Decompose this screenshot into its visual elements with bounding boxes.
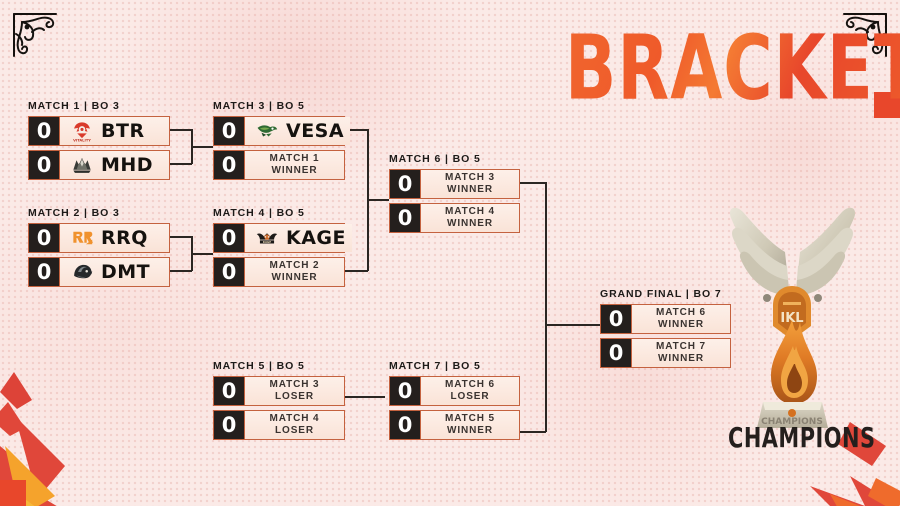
match-label: MATCH 6 | BO 5: [389, 153, 520, 165]
bracket-slot[interactable]: 0 MATCH 4 WINNER: [389, 203, 520, 233]
score-value: 0: [390, 377, 421, 405]
match-1: MATCH 1 | BO 3 0 VITALITY BTR 0: [28, 100, 170, 180]
bracket-slot[interactable]: 0 MATCH 1 WINNER: [213, 150, 345, 180]
bracket-slot[interactable]: 0 MATCH 3 LOSER: [213, 376, 345, 406]
bracket-slot[interactable]: 0 MATCH 5 WINNER: [389, 410, 520, 440]
bracket-slot[interactable]: 0 MATCH 3 WINNER: [389, 169, 520, 199]
score-value: 0: [390, 204, 421, 232]
score-value: 0: [29, 258, 60, 286]
connector-line: [170, 236, 192, 238]
bracket-slot[interactable]: 0 VESA: [213, 116, 345, 146]
score-value: 0: [601, 339, 632, 367]
bracket-slot[interactable]: 0 KAGE KAGE: [213, 223, 345, 253]
vesa-logo-icon: [255, 120, 279, 142]
connector-line: [170, 129, 192, 131]
slot-placeholder: MATCH 4 WINNER: [427, 206, 513, 231]
connector-line: [170, 270, 192, 272]
match-label: MATCH 1 | BO 3: [28, 100, 170, 112]
bracket-slot[interactable]: 0 MATCH 6 LOSER: [389, 376, 520, 406]
team-name: RRQ: [101, 227, 148, 249]
score-value: 0: [214, 377, 245, 405]
rrq-logo-icon: [70, 227, 94, 249]
connector-line: [367, 129, 369, 271]
score-value: 0: [214, 117, 245, 145]
slot-placeholder: MATCH 5 WINNER: [427, 413, 513, 438]
match-3: MATCH 3 | BO 5 0 VESA 0: [213, 100, 345, 180]
connector-line: [191, 129, 193, 164]
placeholder-line-1: MATCH 1: [251, 153, 338, 166]
trophy-icon: IKL CHAMPIONS: [705, 160, 880, 430]
score-value: 0: [214, 258, 245, 286]
match-label: MATCH 4 | BO 5: [213, 207, 345, 219]
placeholder-line-2: LOSER: [251, 391, 338, 404]
team-name: VESA: [286, 120, 344, 142]
score-value: 0: [29, 117, 60, 145]
match-6: MATCH 6 | BO 5 0 MATCH 3 WINNER 0 MATCH …: [389, 153, 520, 233]
score-value: 0: [601, 305, 632, 333]
match-label: MATCH 7 | BO 5: [389, 360, 520, 372]
slot-placeholder: MATCH 1 WINNER: [251, 153, 338, 178]
connector-line: [170, 163, 192, 165]
connector-line: [367, 199, 389, 201]
champions-label: CHAMPIONS: [728, 423, 875, 454]
slot-placeholder: MATCH 6 LOSER: [427, 379, 513, 404]
placeholder-line-1: MATCH 4: [427, 206, 513, 219]
connector-line: [345, 270, 368, 272]
bracket-page: BRACKET MATCH 1 | BO 3 0: [0, 0, 900, 506]
slot-placeholder: MATCH 2 WINNER: [251, 260, 338, 285]
placeholder-line-2: LOSER: [427, 391, 513, 404]
team-name: BTR: [101, 120, 145, 142]
placeholder-line-1: MATCH 4: [251, 413, 338, 426]
slot-placeholder: MATCH 4 LOSER: [251, 413, 338, 438]
team-name: DMT: [101, 261, 150, 283]
filigree-ornament-icon: [10, 10, 62, 62]
placeholder-line-2: WINNER: [427, 218, 513, 231]
bracket-slot[interactable]: 0 MHD: [28, 150, 170, 180]
match-2: MATCH 2 | BO 3 0 RRQ 0: [28, 207, 170, 287]
bracket-slot[interactable]: 0 RRQ: [28, 223, 170, 253]
btr-vitality-logo-icon: VITALITY: [70, 120, 94, 142]
team-name: KAGE: [286, 227, 346, 249]
connector-line: [545, 182, 547, 325]
placeholder-line-2: WINNER: [427, 184, 513, 197]
page-title: BRACKET: [565, 24, 900, 113]
score-value: 0: [390, 411, 421, 439]
placeholder-line-2: WINNER: [251, 165, 338, 178]
slot-placeholder: MATCH 3 WINNER: [427, 172, 513, 197]
connector-line: [520, 182, 546, 184]
connector-line: [191, 146, 213, 148]
placeholder-line-1: MATCH 2: [251, 260, 338, 273]
match-5: MATCH 5 | BO 5 0 MATCH 3 LOSER 0 MATCH 4…: [213, 360, 345, 440]
flame-icon: [0, 296, 200, 506]
match-4: MATCH 4 | BO 5 0 KAGE KAGE 0: [213, 207, 345, 287]
connector-line: [545, 324, 547, 432]
match-label: MATCH 3 | BO 5: [213, 100, 345, 112]
placeholder-line-1: MATCH 6: [427, 379, 513, 392]
bracket-slot[interactable]: 0 DMT: [28, 257, 170, 287]
connector-line: [520, 431, 546, 433]
match-label: MATCH 2 | BO 3: [28, 207, 170, 219]
score-value: 0: [214, 224, 245, 252]
placeholder-line-2: LOSER: [251, 425, 338, 438]
placeholder-line-1: MATCH 3: [427, 172, 513, 185]
slot-placeholder: MATCH 3 LOSER: [251, 379, 338, 404]
connector-line: [545, 324, 600, 326]
mhd-logo-icon: [70, 154, 94, 176]
placeholder-line-1: MATCH 5: [427, 413, 513, 426]
svg-text:KAGE: KAGE: [263, 240, 271, 244]
flame-icon: [0, 480, 26, 506]
connector-line: [191, 253, 213, 255]
placeholder-line-2: WINNER: [427, 425, 513, 438]
bracket-slot[interactable]: 0 MATCH 4 LOSER: [213, 410, 345, 440]
score-value: 0: [214, 411, 245, 439]
match-7: MATCH 7 | BO 5 0 MATCH 6 LOSER 0 MATCH 5…: [389, 360, 520, 440]
bracket-slot[interactable]: 0 MATCH 2 WINNER: [213, 257, 345, 287]
connector-line: [191, 236, 193, 271]
score-value: 0: [29, 151, 60, 179]
placeholder-line-2: WINNER: [251, 272, 338, 285]
score-value: 0: [390, 170, 421, 198]
dmt-logo-icon: [70, 261, 94, 283]
score-value: 0: [214, 151, 245, 179]
connector-line: [345, 396, 385, 398]
match-label: MATCH 5 | BO 5: [213, 360, 345, 372]
team-name: MHD: [101, 154, 153, 176]
score-value: 0: [29, 224, 60, 252]
bracket-slot[interactable]: 0 VITALITY BTR: [28, 116, 170, 146]
kage-logo-icon: KAGE: [255, 227, 279, 249]
svg-text:VITALITY: VITALITY: [73, 139, 91, 142]
placeholder-line-1: MATCH 3: [251, 379, 338, 392]
